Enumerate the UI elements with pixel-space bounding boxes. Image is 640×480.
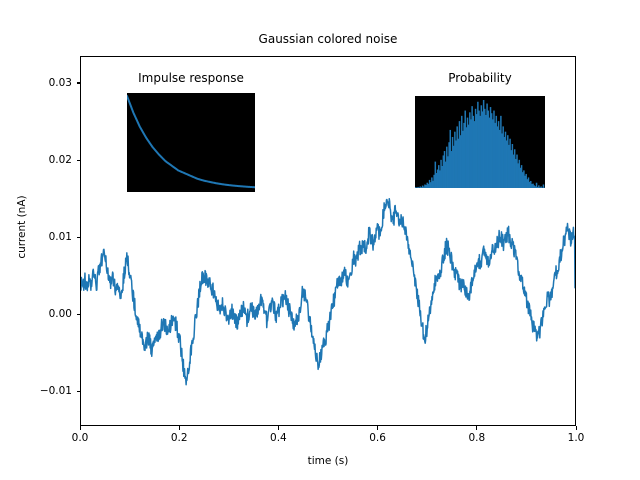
x-axis-label: time (s) — [80, 455, 576, 467]
x-tick-mark — [80, 426, 81, 430]
x-tick-mark — [278, 426, 279, 430]
inset-probability-title: Probability — [405, 71, 555, 85]
x-tick-mark — [576, 426, 577, 430]
y-tick-mark — [77, 391, 81, 392]
inset-impulse-response — [127, 93, 255, 192]
y-tick-label: 0.03 — [12, 77, 72, 89]
x-tick-mark — [377, 426, 378, 430]
impulse-curve — [127, 96, 255, 187]
x-tick-mark — [476, 426, 477, 430]
x-tick-label: 0.0 — [57, 432, 103, 444]
histogram-bars — [415, 100, 545, 188]
chart-title: Gaussian colored noise — [80, 31, 576, 47]
y-tick-mark — [77, 314, 81, 315]
signal-trace — [81, 199, 575, 385]
inset-probability-histogram — [415, 96, 545, 188]
y-tick-mark — [77, 237, 81, 238]
histogram-bar — [543, 184, 545, 188]
probability-histogram-plot — [415, 96, 545, 188]
x-tick-label: 1.0 — [553, 432, 599, 444]
y-tick-label: −0.01 — [12, 385, 72, 397]
y-tick-mark — [77, 160, 81, 161]
x-tick-label: 0.2 — [156, 432, 202, 444]
y-tick-label: 0.00 — [12, 308, 72, 320]
matplotlib-figure: Gaussian colored noise 0.00.20.40.60.81.… — [0, 0, 640, 480]
x-tick-label: 0.6 — [355, 432, 401, 444]
x-tick-mark — [179, 426, 180, 430]
y-axis-label: current (nA) — [16, 157, 28, 297]
y-tick-mark — [77, 82, 81, 83]
x-tick-label: 0.8 — [454, 432, 500, 444]
impulse-response-plot — [127, 93, 255, 192]
inset-impulse-title: Impulse response — [117, 71, 265, 85]
x-tick-label: 0.4 — [255, 432, 301, 444]
